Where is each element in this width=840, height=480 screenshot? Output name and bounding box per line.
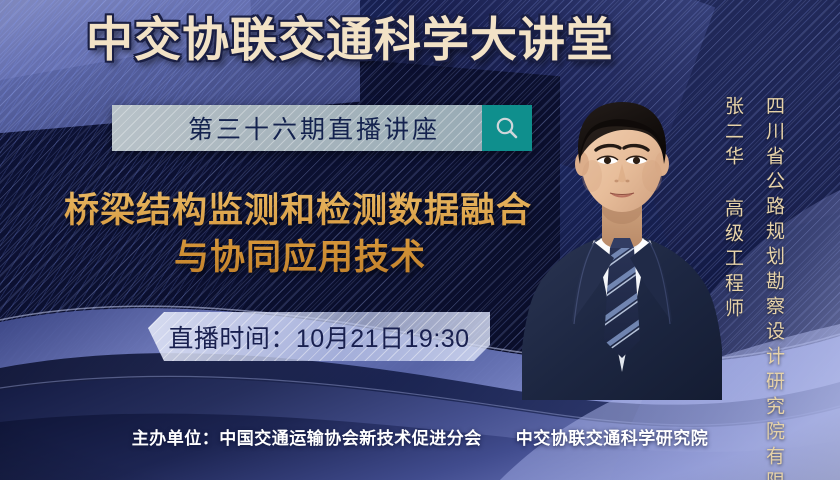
organizer-label: 主办单位：	[132, 429, 220, 448]
organizer-secondary: 中交协联交通科学研究院	[516, 429, 709, 448]
lecture-title-line-2: 与协同应用技术	[0, 235, 596, 282]
organizer-primary: 中国交通运输协会新技术促进分会	[219, 429, 482, 448]
search-button[interactable]	[482, 105, 532, 151]
lecture-title-line-1: 桥梁结构监测和检测数据融合	[0, 188, 596, 235]
speaker-organization: 四川省公路规划勘察设计研究院有限公司	[760, 96, 787, 480]
broadcast-time-text: 直播时间：10月21日19:30	[168, 319, 469, 355]
speaker-name-and-title: 张二华 高级工程师	[719, 96, 746, 323]
page-title: 中交协联交通科学大讲堂	[0, 12, 700, 67]
lecture-title: 桥梁结构监测和检测数据融合 与协同应用技术	[0, 188, 596, 281]
poster-canvas: 中交协联交通科学大讲堂 第三十六期直播讲座 桥梁结构监测和检测数据融合 与协同应…	[0, 0, 840, 480]
footer-organizers: 主办单位：中国交通运输协会新技术促进分会中交协联交通科学研究院	[0, 424, 840, 449]
episode-label: 第三十六期直播讲座	[112, 105, 482, 151]
episode-banner: 第三十六期直播讲座	[112, 105, 532, 151]
broadcast-time-banner: 直播时间：10月21日19:30	[148, 312, 490, 361]
search-icon	[494, 115, 520, 141]
